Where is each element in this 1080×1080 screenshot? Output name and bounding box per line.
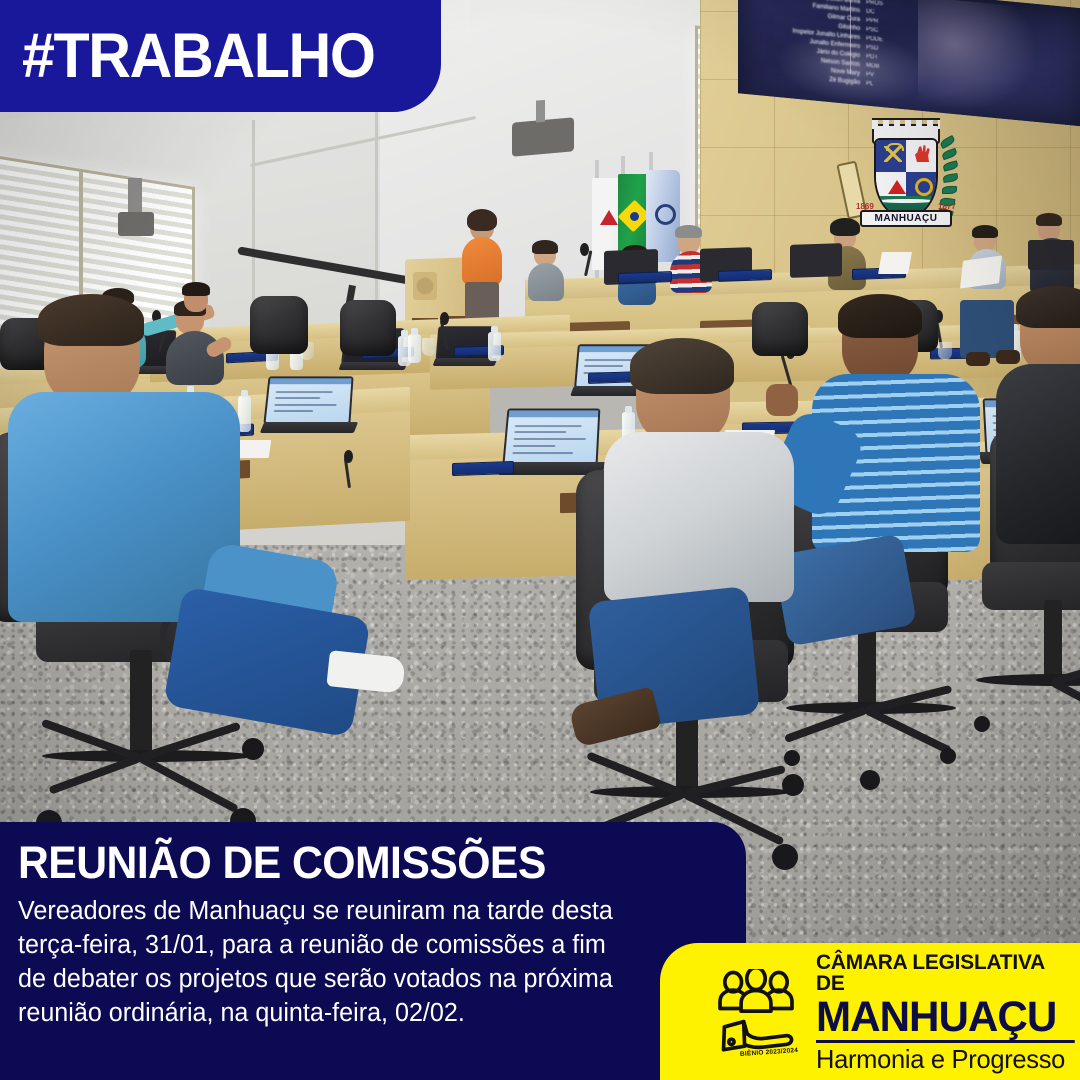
logo-wordmark: CÂMARA LEGISLATIVA DE MANHUAÇU Harmonia …	[816, 952, 1080, 1072]
nameplate	[618, 271, 672, 284]
ceiling-mount	[128, 178, 142, 218]
paper-sheet	[878, 252, 912, 274]
nameplate	[718, 269, 772, 282]
water-bottle	[488, 332, 501, 361]
person-hair	[630, 338, 734, 394]
city-coat-of-arms: 1869 1877 MANHUAÇU	[846, 118, 966, 238]
caption-title: REUNIÃO DE COMISSÕES	[18, 840, 691, 885]
person-shoe	[966, 352, 990, 366]
quarter-arrows	[876, 140, 906, 172]
microphone-head	[344, 450, 353, 463]
laptop-lid	[263, 376, 353, 424]
person-hand	[766, 384, 798, 416]
laptop-left	[262, 376, 356, 438]
laptop-screen	[505, 410, 599, 462]
laptop-center	[500, 408, 604, 482]
heraldic-shield	[874, 138, 938, 218]
drinking-glass	[938, 342, 952, 360]
nameplate	[452, 461, 514, 476]
drinking-glass	[422, 338, 436, 356]
caption-panel: REUNIÃO DE COMISSÕES Vereadores de Manhu…	[0, 822, 746, 1080]
person-torso	[604, 432, 794, 602]
person-hair	[38, 294, 144, 346]
social-media-poster: Antônio CarlosPSB Odilon BonfáPROS Famil…	[0, 0, 1080, 1080]
hashtag-banner: #TRABALHO	[0, 0, 441, 112]
microphone-head	[580, 243, 589, 256]
person-torso	[462, 237, 502, 285]
logo-badge: BIÊNIO 2023/2024 CÂMARA LEGISLATIVA DE M…	[660, 943, 1080, 1080]
board-glare	[778, 25, 928, 109]
laptop-screen	[266, 378, 352, 422]
microphone-head	[440, 312, 449, 325]
podium-crest-icon	[413, 272, 437, 300]
paper-sheet	[960, 255, 1002, 288]
laptop-lid	[502, 408, 600, 464]
person-shoe	[996, 350, 1020, 364]
caption-body: Vereadores de Manhuaçu se reuniram na ta…	[18, 895, 619, 1031]
dais-monitor	[1028, 240, 1074, 270]
quarter-coffee-hand	[906, 140, 936, 172]
logo-line-city: MANHUAÇU	[816, 996, 1075, 1043]
logo-line-motto: Harmonia e Progresso	[816, 1046, 1075, 1072]
person-hair	[467, 209, 497, 231]
water-bottle	[408, 334, 421, 363]
person-torso	[996, 364, 1080, 544]
people-on-hand-icon: BIÊNIO 2023/2024	[712, 969, 800, 1055]
board-glare	[918, 0, 1038, 118]
coat-city-ribbon: MANHUAÇU	[860, 210, 952, 227]
coat-city-name: MANHUAÇU	[875, 213, 938, 224]
projector-unit	[512, 117, 574, 156]
person-hair	[838, 294, 922, 338]
logo-line-camara: CÂMARA LEGISLATIVA DE	[816, 952, 1072, 995]
laptop-base	[339, 362, 408, 370]
laptop-base	[260, 422, 358, 433]
dais-monitor	[790, 243, 842, 278]
person-hair	[1016, 286, 1080, 328]
hashtag-label: #TRABALHO	[22, 25, 375, 88]
city-flag	[646, 170, 680, 262]
